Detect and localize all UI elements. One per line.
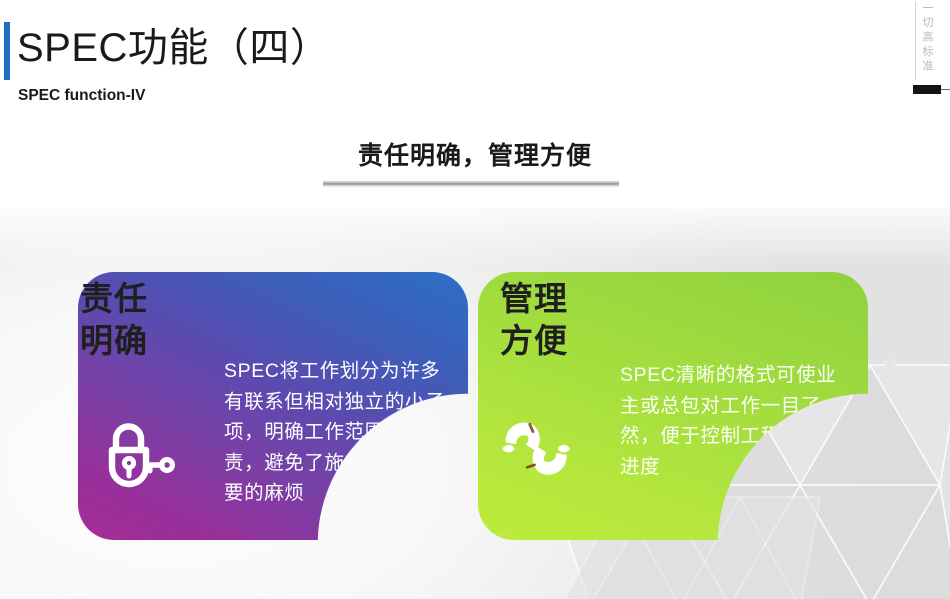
page-subtitle: SPEC function-IV — [18, 86, 145, 106]
background-fade — [0, 196, 950, 266]
header-accent-bar — [4, 22, 10, 80]
corner-vertical-rule — [915, 2, 916, 80]
section-heading-rule — [323, 181, 619, 187]
triangle-accent-icon — [880, 356, 900, 376]
corner-black-block-line — [941, 89, 950, 90]
card-management-label: 管理 方便 — [500, 278, 568, 362]
section-heading: 责任明确，管理方便 — [0, 139, 950, 173]
triangle-accent-icon — [624, 570, 644, 590]
page-title: SPEC功能（四） — [17, 21, 330, 75]
corner-black-block — [913, 85, 941, 94]
chain-link-icon — [498, 408, 576, 486]
card-responsibility-label: 责任 明确 — [80, 278, 148, 362]
card-responsibility-body: SPEC将工作划分为许多有联系但相对独立的小子项，明确工作范围及职责，避免了施工… — [224, 356, 456, 509]
corner-vertical-slogan: 一切高标准 — [918, 2, 934, 75]
slide-canvas: SPEC功能（四） SPEC function-IV 一切高标准 责任明确，管理… — [0, 0, 950, 599]
card-management-body: SPEC清晰的格式可使业主或总包对工作一目了然，便于控制工程质量和进度 — [620, 360, 846, 482]
unlocked-padlock-icon — [100, 415, 178, 493]
